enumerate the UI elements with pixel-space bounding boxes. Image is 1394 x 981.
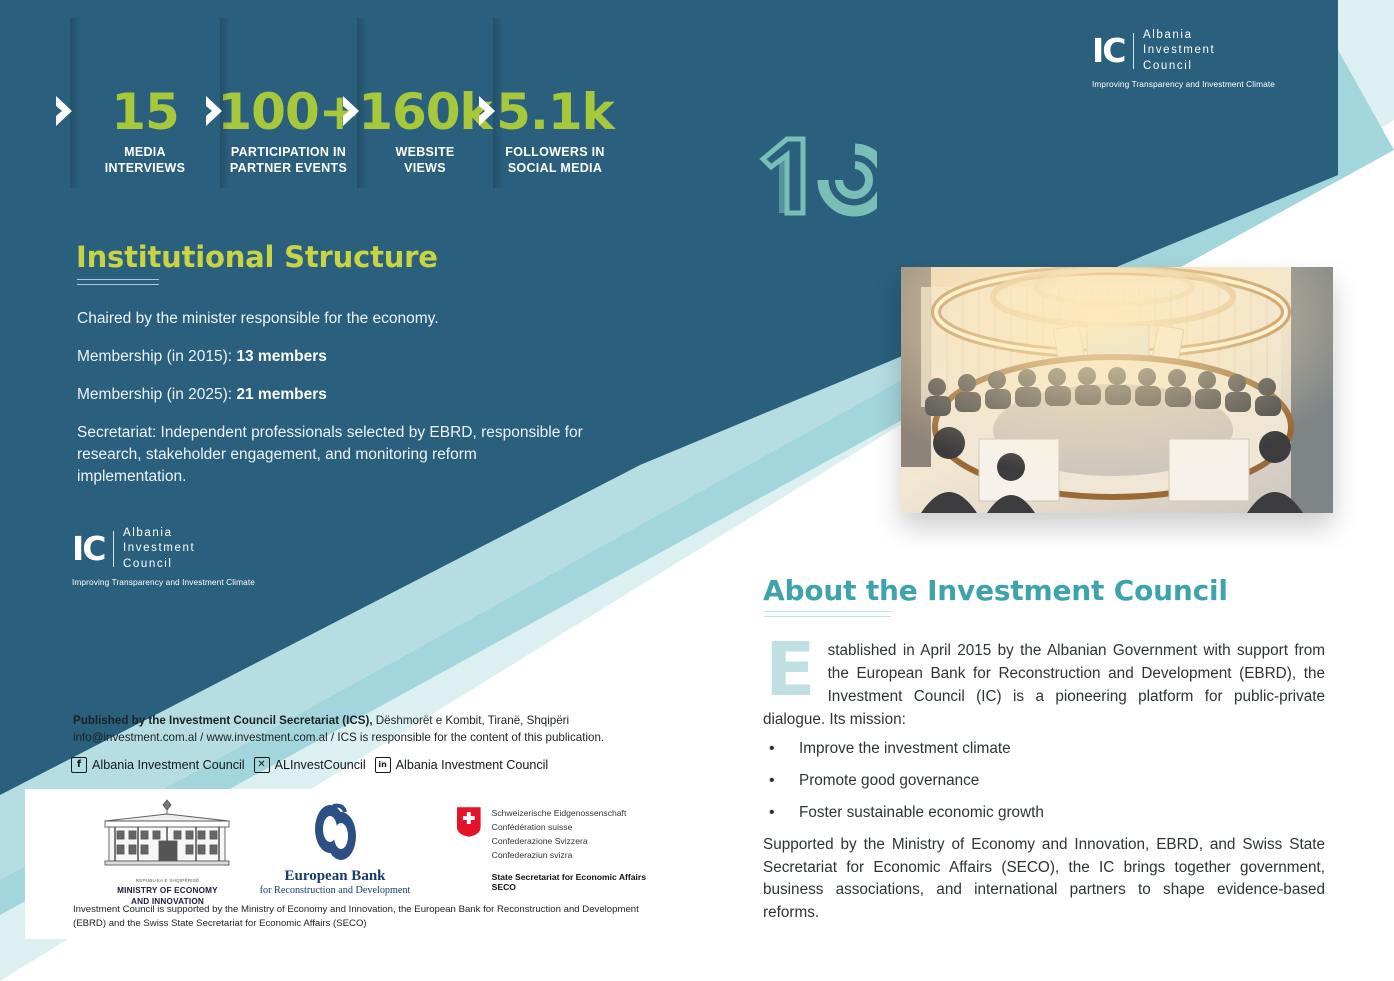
council-meeting-photo [901, 267, 1333, 513]
stat-label-line2: INTERVIEWS [105, 161, 186, 175]
seco-line-rm: Confederaziun svizra [492, 849, 670, 863]
ministry-caption-line1: MINISTRY OF ECONOMY [117, 886, 218, 895]
chevron-right-icon [343, 96, 365, 126]
social-handle: Albania Investment Council [396, 758, 549, 772]
ministry-logo: REPUBLIKA E SHQIPËRISË MINISTRY OF ECONO… [75, 797, 260, 907]
ebrd-logo: European Bank for Reconstruction and Dev… [240, 803, 430, 896]
x-twitter-icon: ✕ [254, 757, 270, 773]
ministry-tiny-caption: REPUBLIKA E SHQIPËRISË [75, 878, 260, 883]
list-item: Improve the investment climate [763, 738, 1325, 761]
seco-text-block: Schweizerische Eidgenossenschaft Confédé… [492, 807, 670, 892]
social-link-x[interactable]: ✕ ALInvestCouncil [254, 757, 366, 773]
chevron-right-icon [479, 96, 501, 126]
publication-line1: Published by the Investment Council Secr… [73, 712, 673, 729]
membership-2015-label: Membership (in 2015): [77, 348, 236, 365]
ebrd-name-line2: for Reconstruction and Development [240, 885, 430, 896]
stat-item: 100+ PARTICIPATION IN PARTNER EVENTS [220, 18, 357, 188]
seco-line-fr: Confédération suisse [492, 821, 670, 835]
stat-label-line2: SOCIAL MEDIA [508, 161, 602, 175]
membership-2025-label: Membership (in 2025): [77, 386, 236, 403]
partner-logos-panel: REPUBLIKA E SHQIPËRISË MINISTRY OF ECONO… [25, 789, 670, 939]
secretariat-text: Secretariat: Independent professionals s… [77, 422, 587, 488]
brand-name-line2: Investment [123, 542, 195, 554]
about-intro-paragraph: stablished in April 2015 by the Albanian… [763, 640, 1325, 732]
social-link-facebook[interactable]: f Albania Investment Council [71, 757, 245, 773]
brand-name-line3: Council [123, 558, 173, 570]
ministry-building-icon [75, 797, 260, 873]
stat-item: 160k WEBSITE VIEWS [357, 18, 493, 188]
institutional-structure-body: Chaired by the minister responsible for … [77, 308, 587, 504]
seco-caption: State Secretariat for Economic Affairs S… [492, 872, 670, 892]
brand-name-line3: Council [1143, 60, 1193, 72]
list-item: Promote good governance [763, 770, 1325, 793]
stat-value: 15 [111, 87, 179, 137]
brand-tagline: Improving Transparency and Investment Cl… [1092, 79, 1275, 89]
support-note: Investment Council is supported by the M… [73, 903, 663, 931]
stat-value: 5.1k [496, 87, 614, 137]
seco-line-it: Confederazione Svizzera [492, 835, 670, 849]
membership-2015-row: Membership (in 2015): 13 members [77, 346, 587, 368]
mission-bullet-list: Improve the investment climate Promote g… [763, 738, 1325, 825]
institutional-chair-text: Chaired by the minister responsible for … [77, 308, 587, 330]
stat-label-line2: PARTNER EVENTS [230, 161, 347, 175]
about-heading: About the Investment Council [763, 574, 1228, 607]
publisher-name: Published by the Investment Council Secr… [73, 714, 373, 727]
facebook-icon: f [71, 757, 87, 773]
about-heading-underline [764, 611, 891, 617]
seco-line-de: Schweizerische Eidgenossenschaft [492, 807, 670, 821]
stat-label-line1: WEBSITE [395, 145, 454, 159]
ebrd-mark-icon [240, 803, 430, 861]
stat-value: 160k [358, 87, 492, 137]
stat-label: WEBSITE VIEWS [395, 144, 454, 176]
brand-logo-body: IC Albania Investment Council Improving … [72, 526, 255, 587]
brand-name: Albania Investment Council [1143, 28, 1215, 74]
publisher-address: Dëshmorët e Kombit, Tiranë, Shqipëri [373, 714, 570, 727]
stats-strip: 15 MEDIA INTERVIEWS 100+ PARTICIPATION I… [70, 18, 670, 188]
brand-tagline: Improving Transparency and Investment Cl… [72, 577, 255, 587]
brand-logo-header: IC Albania Investment Council Improving … [1092, 28, 1275, 89]
social-links: f Albania Investment Council ✕ ALInvestC… [71, 757, 548, 773]
ten-years-number-icon [757, 133, 877, 219]
social-link-linkedin[interactable]: in Albania Investment Council [375, 757, 549, 773]
social-handle: ALInvestCouncil [275, 758, 366, 772]
stat-label-line1: PARTICIPATION IN [231, 145, 346, 159]
council-chamber-illustration [901, 267, 1333, 513]
list-item: Foster sustainable economic growth [763, 802, 1325, 825]
about-body: E stablished in April 2015 by the Albani… [763, 640, 1325, 925]
stat-label-line1: FOLLOWERS IN [505, 145, 604, 159]
stat-item: 15 MEDIA INTERVIEWS [70, 18, 220, 188]
about-closing-paragraph: Supported by the Ministry of Economy and… [763, 834, 1325, 926]
seco-logo: Schweizerische Eidgenossenschaft Confédé… [457, 807, 670, 892]
stat-label: PARTICIPATION IN PARTNER EVENTS [230, 144, 347, 176]
stat-label-line2: VIEWS [404, 161, 446, 175]
stat-item: 5.1k FOLLOWERS IN SOCIAL MEDIA [493, 18, 617, 188]
chevron-right-icon [56, 96, 78, 126]
stat-label: MEDIA INTERVIEWS [105, 144, 186, 176]
ic-monogram-icon: IC [1092, 34, 1125, 67]
membership-2025-value: 21 members [236, 386, 326, 403]
institutional-structure-heading: Institutional Structure [76, 240, 438, 274]
brand-name-line2: Investment [1143, 44, 1215, 56]
stat-value: 100+ [217, 87, 359, 137]
swiss-flag-icon [457, 807, 481, 837]
publication-line2: info@investment.com.al / www.investment.… [73, 729, 673, 746]
brand-name: Albania Investment Council [123, 526, 195, 572]
brand-name-line1: Albania [1143, 29, 1193, 41]
brand-name-line1: Albania [123, 527, 173, 539]
publication-info: Published by the Investment Council Secr… [73, 712, 673, 747]
heading-underline [77, 279, 159, 285]
membership-2015-value: 13 members [236, 348, 326, 365]
drop-cap: E [765, 642, 816, 700]
logo-divider [113, 531, 115, 567]
stat-label-line1: MEDIA [124, 145, 166, 159]
linkedin-icon: in [375, 757, 391, 773]
seco-languages: Schweizerische Eidgenossenschaft Confédé… [492, 807, 670, 863]
stat-label: FOLLOWERS IN SOCIAL MEDIA [505, 144, 604, 176]
ic-monogram-icon: IC [72, 532, 105, 565]
membership-2025-row: Membership (in 2025): 21 members [77, 384, 587, 406]
chevron-right-icon [206, 96, 228, 126]
logo-divider [1133, 33, 1135, 69]
poster-page: 15 MEDIA INTERVIEWS 100+ PARTICIPATION I… [0, 0, 1394, 981]
anniversary-lockup: YEARS of Impactful Public-Private Dialog… [757, 133, 877, 224]
ebrd-name-line1: European Bank [240, 868, 430, 885]
social-handle: Albania Investment Council [92, 758, 245, 772]
